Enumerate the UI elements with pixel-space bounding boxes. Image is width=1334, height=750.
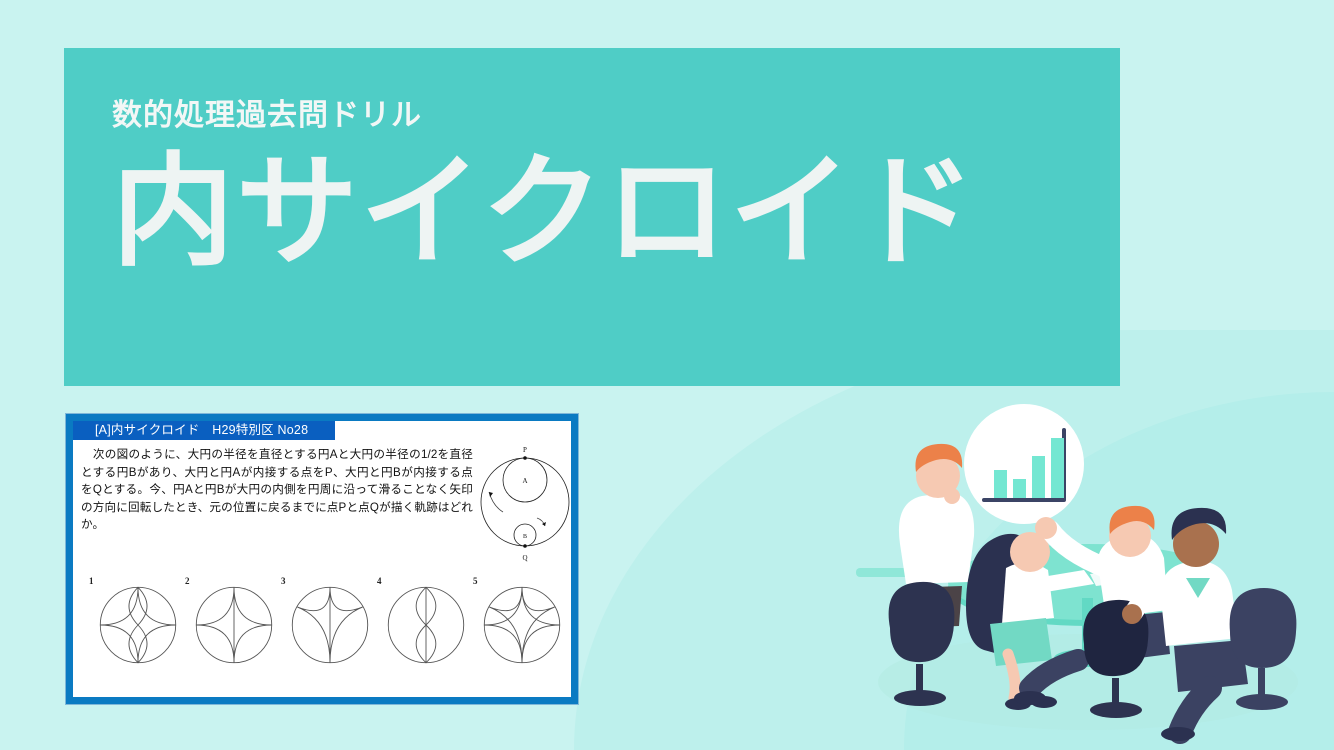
option-1-number: 1	[89, 576, 94, 586]
option-2-number: 2	[185, 576, 190, 586]
chair-right-base	[1236, 694, 1288, 710]
label-a: A	[522, 477, 527, 485]
business-meeting-illustration	[838, 392, 1334, 750]
label-b: B	[523, 534, 527, 540]
chart-bar-4	[1051, 438, 1064, 498]
question-text: 次の図のように、大円の半径を直径とする円Aと大円の半径の1/2を直径とする円Bが…	[81, 446, 473, 534]
label-q: Q	[522, 554, 527, 562]
rotation-arrow-a	[489, 492, 503, 512]
option-5-figure	[481, 584, 563, 666]
chart-bar-1	[994, 470, 1007, 498]
bar-chart-bubble	[964, 404, 1084, 524]
option-3-figure	[289, 584, 371, 666]
answer-options: 1 2	[79, 576, 577, 686]
rotation-arrow-b	[537, 518, 546, 526]
option-2-figure	[193, 584, 275, 666]
panel-header-label: [A]内サイクロイド H29特別区 No28	[73, 421, 335, 440]
point-q-dot	[523, 544, 527, 548]
option-4-number: 4	[377, 576, 382, 586]
chair-left-back	[889, 582, 955, 662]
option-4-figure	[385, 584, 467, 666]
chair-left-base	[894, 690, 946, 706]
point-p-dot	[523, 456, 527, 460]
option-1-figure	[97, 584, 179, 666]
problem-panel: [A]内サイクロイド H29特別区 No28 次の図のように、大円の半径を直径と…	[66, 414, 578, 704]
banner-subtitle: 数的処理過去問ドリル	[112, 90, 422, 134]
chart-bar-2	[1013, 479, 1026, 498]
problem-figure: P Q A B	[473, 440, 577, 562]
chair-right-back	[1230, 588, 1297, 668]
chart-bar-3	[1032, 456, 1045, 498]
label-p: P	[523, 446, 527, 454]
title-banner: 数的処理過去問ドリル 内サイクロイド	[64, 48, 1120, 386]
option-3-number: 3	[281, 576, 286, 586]
panel-body: 次の図のように、大円の半径を直径とする円Aと大円の半径の1/2を直径とする円Bが…	[73, 440, 571, 697]
chair-center-base	[1090, 702, 1142, 718]
option-5-number: 5	[473, 576, 478, 586]
banner-title: 内サイクロイド	[112, 136, 978, 289]
